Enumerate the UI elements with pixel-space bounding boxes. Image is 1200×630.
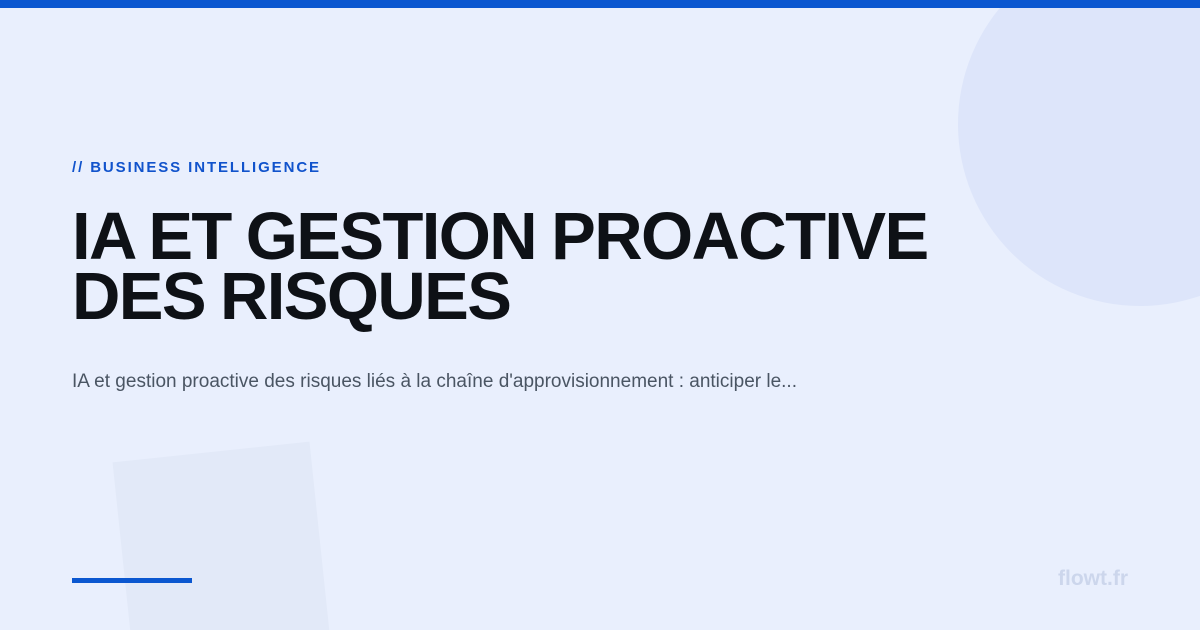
card-description: IA et gestion proactive des risques liés… [72, 367, 862, 396]
card-content: // BUSINESS INTELLIGENCE IA ET GESTION P… [72, 160, 972, 396]
category-eyebrow: // BUSINESS INTELLIGENCE [72, 160, 972, 175]
brand-logo: flowt.fr [1058, 568, 1128, 589]
top-accent-bar [0, 0, 1200, 8]
rotated-square-decoration-icon [113, 442, 332, 630]
circle-decoration-icon [958, 0, 1200, 306]
og-card: // BUSINESS INTELLIGENCE IA ET GESTION P… [0, 0, 1200, 630]
accent-underline [72, 578, 192, 583]
page-title: IA ET GESTION PROACTIVE DES RISQUES [72, 207, 942, 327]
